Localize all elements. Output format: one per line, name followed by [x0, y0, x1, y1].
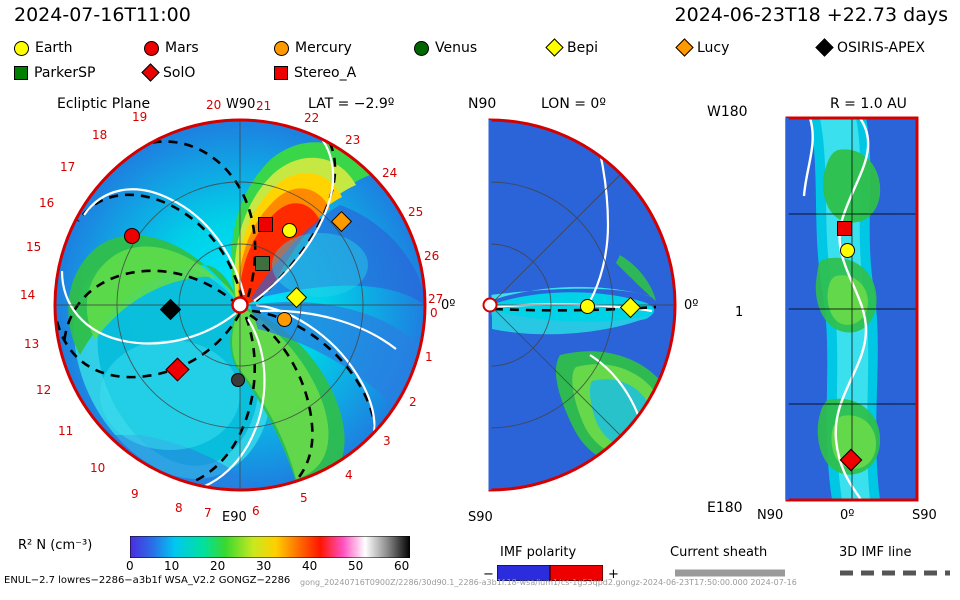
panel1-tick-23: 23 [345, 133, 360, 147]
header-left-datetime: 2024-07-16T11:00 [14, 4, 191, 26]
colorbar-tick-20: 20 [210, 559, 225, 573]
panel1-marker-stereo-a [258, 217, 273, 232]
panel1-tick-19: 19 [132, 110, 147, 124]
venus-icon [414, 41, 429, 56]
stereo-a-icon [274, 66, 288, 80]
panel1-ecliptic-plot [20, 105, 440, 505]
colorbar-tick-60: 60 [394, 559, 409, 573]
legend-item-lucy: Lucy [678, 40, 729, 56]
parkersp-icon [14, 66, 28, 80]
lucy-icon [675, 38, 693, 56]
panel1-tick-3: 3 [383, 434, 391, 448]
panel1-tick-21: 21 [256, 99, 271, 113]
panel1-tick-26: 26 [424, 249, 439, 263]
panel2-meridional-plot [440, 105, 690, 505]
panel3-marker-earth [840, 243, 855, 258]
panel1-tick-8: 8 [175, 501, 183, 515]
legend-item-venus: Venus [414, 40, 477, 56]
wsa-plot-page: 2024-07-16T11:00 2024-06-23T18 +22.73 da… [0, 0, 960, 600]
colorbar-tick-50: 50 [348, 559, 363, 573]
panel3-marker-stereo-a [837, 221, 852, 236]
panel1-marker-parkersp [255, 256, 270, 271]
legend-item-mercury: Mercury [274, 40, 352, 56]
panel3-bottom-left-label: E180 [707, 500, 743, 516]
legend-item-bepi: Bepi [548, 40, 598, 56]
panel1-tick-7: 7 [204, 506, 212, 520]
current-sheath-swatch [675, 568, 785, 578]
imf-3d-swatch [840, 568, 950, 578]
panel1-tick-16: 16 [39, 196, 54, 210]
panel1-tick-12: 12 [36, 383, 51, 397]
current-sheath-title: Current sheath [670, 545, 767, 560]
panel1-tick-10: 10 [90, 461, 105, 475]
colorbar-label: R² N (cm⁻³) [18, 538, 92, 553]
panel3-xtick-s90: S90 [912, 508, 937, 523]
osiris-apex-icon [815, 38, 833, 56]
panel1-tick-2: 2 [409, 395, 417, 409]
panel3-xtick-0: 0º [840, 508, 854, 523]
panel1-tick-13: 13 [24, 337, 39, 351]
footer-text: ENUL−2.7 lowres−2286−a3b1f WSA_V2.2 GONG… [4, 575, 290, 586]
legend-item-mars: Mars [144, 40, 199, 56]
panel1-marker-mercury [277, 312, 292, 327]
panel1-tick-4: 4 [345, 468, 353, 482]
legend-item-stereo-a: Stereo_A [274, 65, 356, 81]
panel2-bottom-label: S90 [468, 510, 493, 525]
colorbar-tick-0: 0 [126, 559, 134, 573]
panel3-ytick-1: 1 [735, 305, 743, 320]
panel1-bottom-label: E90 [222, 510, 247, 525]
panel1-tick-1: 1 [425, 350, 433, 364]
colorbar-tick-30: 30 [256, 559, 271, 573]
earth-icon [14, 41, 29, 56]
panel1-tick-17: 17 [60, 160, 75, 174]
panel1-tick-6: 6 [252, 504, 260, 518]
panel1-tick-14: 14 [20, 288, 35, 302]
footer-faint-text: gong_20240716T0900Z/2286/30d90.1_2286-a3… [300, 578, 797, 587]
solo-icon [141, 63, 159, 81]
panel1-tick-0: 0 [430, 306, 438, 320]
legend-item-solo: SolO [144, 65, 195, 81]
panel3-xtick-n90: N90 [757, 508, 783, 523]
legend-item-osiris-apex: OSIRIS-APEX [818, 40, 925, 56]
panel1-tick-24: 24 [382, 166, 397, 180]
legend-item-parkersp: ParkerSP [14, 65, 95, 81]
panel1-tick-5: 5 [300, 491, 308, 505]
panel1-marker-mars [124, 228, 140, 244]
panel1-tick-11: 11 [58, 424, 73, 438]
colorbar-tick-10: 10 [164, 559, 179, 573]
colorbar-gradient [130, 536, 410, 558]
imf-polarity-title: IMF polarity [500, 545, 576, 560]
panel1-tick-9: 9 [131, 487, 139, 501]
bepi-icon [545, 38, 563, 56]
legend-item-earth: Earth [14, 40, 73, 56]
panel1-tick-15: 15 [26, 240, 41, 254]
panel1-tick-18: 18 [92, 128, 107, 142]
panel3-top-left-label: W180 [707, 104, 748, 120]
panel1-tick-20: 20 [206, 98, 221, 112]
panel1-marker-earth [282, 223, 297, 238]
panel1-marker-venus [231, 373, 245, 387]
colorbar-tick-40: 40 [302, 559, 317, 573]
panel1-tick-22: 22 [304, 111, 319, 125]
imf-3d-title: 3D IMF line [839, 545, 912, 560]
panel1-tick-25: 25 [408, 205, 423, 219]
mercury-icon [274, 41, 289, 56]
panel2-marker-earth [580, 299, 595, 314]
header-right-datetime: 2024-06-23T18 +22.73 days [675, 4, 948, 26]
mars-icon [144, 41, 159, 56]
